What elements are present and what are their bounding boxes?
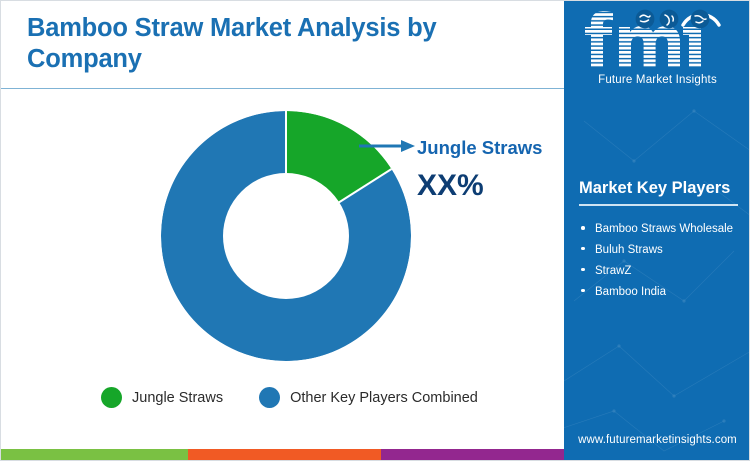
arrow-right-icon <box>359 139 415 153</box>
globe-icon-asia <box>690 10 709 29</box>
legend-item-jungle-straws[interactable]: Jungle Straws <box>101 387 223 408</box>
bullet-icon <box>581 289 585 293</box>
callout-value-percentage: XX% <box>417 169 484 203</box>
key-player-item: Buluh Straws <box>579 240 747 261</box>
market-key-players-heading: Market Key Players <box>579 179 730 198</box>
legend-item-other-key-players[interactable]: Other Key Players Combined <box>259 387 478 408</box>
key-player-label: Bamboo India <box>595 286 666 298</box>
bullet-icon <box>581 268 585 272</box>
key-player-item: Bamboo India <box>579 282 747 303</box>
market-key-players-divider <box>579 204 738 206</box>
page-title: Bamboo Straw Market Analysis by Company <box>27 13 497 75</box>
footer-segment-orange <box>188 449 381 460</box>
legend-label: Jungle Straws <box>132 390 223 406</box>
key-player-label: Buluh Straws <box>595 244 663 256</box>
header-divider <box>1 88 564 89</box>
globe-icon-europe-africa <box>659 10 678 29</box>
key-player-label: Bamboo Straws Wholesale <box>595 223 733 235</box>
bullet-icon <box>581 247 585 251</box>
footer-segment-purple <box>381 449 564 460</box>
globe-icon-americas <box>635 10 654 29</box>
legend-color-swatch-green <box>101 387 122 408</box>
fmi-logo: Future Market Insights <box>564 9 750 86</box>
bullet-icon <box>581 226 585 230</box>
legend-color-swatch-blue <box>259 387 280 408</box>
logo-tagline: Future Market Insights <box>564 74 750 86</box>
chart-legend: Jungle Straws Other Key Players Combined <box>101 387 478 408</box>
legend-label: Other Key Players Combined <box>290 390 478 406</box>
donut-center-hole <box>223 173 349 299</box>
footer-segment-green <box>1 449 188 460</box>
market-key-players-list: Bamboo Straws WholesaleBuluh StrawsStraw… <box>579 219 747 303</box>
callout-label-jungle-straws: Jungle Straws <box>417 137 542 159</box>
key-player-label: StrawZ <box>595 265 631 277</box>
key-player-item: Bamboo Straws Wholesale <box>579 219 747 240</box>
footer-color-bar <box>1 449 564 460</box>
fmi-wordmark-icon <box>583 9 733 71</box>
infographic-root: Bamboo Straw Market Analysis by Company … <box>0 0 750 461</box>
website-url: www.futuremarketinsights.com <box>564 434 750 446</box>
key-player-item: StrawZ <box>579 261 747 282</box>
